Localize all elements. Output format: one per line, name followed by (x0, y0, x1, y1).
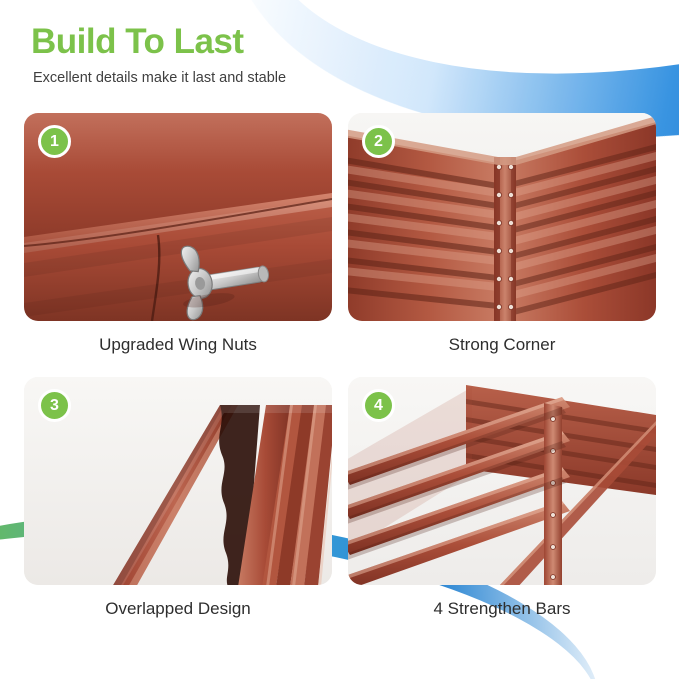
feature-caption-4: 4 Strengthen Bars (348, 599, 656, 619)
feature-badge-1: 1 (38, 125, 71, 158)
feature-cell-1: 1 Upgraded Wing Nuts (24, 113, 332, 377)
feature-caption-2: Strong Corner (348, 335, 656, 355)
feature-caption-3: Overlapped Design (24, 599, 332, 619)
feature-badge-3: 3 (38, 389, 71, 422)
feature-cell-4: 4 4 Strengthen Bars (348, 377, 656, 641)
feature-row-1: 1 Upgraded Wing Nuts (24, 113, 656, 377)
feature-grid: 1 Upgraded Wing Nuts (24, 113, 656, 641)
corner-joint-photo: 2 (348, 113, 656, 321)
overlapped-panel-photo: 3 (24, 377, 332, 585)
promo-page: Build To Last Excellent details make it … (0, 0, 679, 679)
page-content: Build To Last Excellent details make it … (0, 0, 679, 679)
feature-cell-3: 3 Overlapped Design (24, 377, 332, 641)
feature-row-2: 3 Overlapped Design (24, 377, 656, 641)
page-title: Build To Last (31, 24, 244, 59)
feature-badge-4: 4 (362, 389, 395, 422)
strengthen-bars-photo: 4 (348, 377, 656, 585)
feature-badge-2: 2 (362, 125, 395, 158)
wing-nut-closeup-photo: 1 (24, 113, 332, 321)
feature-cell-2: 2 Strong Corner (348, 113, 656, 377)
page-subtitle: Excellent details make it last and stabl… (33, 70, 286, 86)
feature-caption-1: Upgraded Wing Nuts (24, 335, 332, 355)
